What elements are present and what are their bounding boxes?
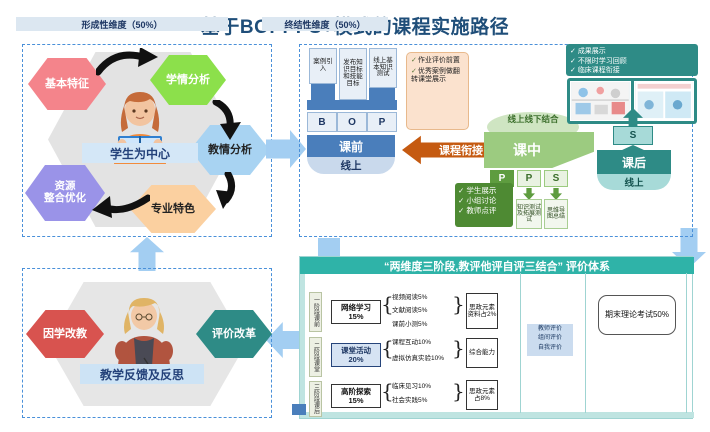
cycle-arrow-4-icon bbox=[92, 190, 150, 222]
callout-postclass-item-3: 临床课程衔接 bbox=[578, 67, 620, 74]
side-box-row-3: 思政元素占8% bbox=[466, 380, 498, 410]
riser-base bbox=[307, 100, 397, 110]
main-box-row-2[interactable]: 课堂活动 20% bbox=[331, 343, 381, 367]
thumbnail-courseware[interactable] bbox=[634, 81, 695, 121]
preclass-box-b[interactable]: 案例引入 bbox=[309, 48, 337, 84]
stage-label-3: 三阶段课后 bbox=[309, 381, 322, 417]
evaluator-peer: 组间评价 bbox=[527, 334, 573, 343]
callout-inclass-item-3: 教师点评 bbox=[466, 206, 496, 215]
postclass-s-box: S bbox=[613, 126, 653, 145]
side-box-row-2: 综合能力 bbox=[466, 338, 498, 368]
sub-item-2-2: 虚拟仿真实验10% bbox=[392, 352, 444, 362]
pps-cell-s: S bbox=[544, 170, 568, 187]
connector-tab-top bbox=[318, 238, 340, 256]
evaluator-self: 自我评价 bbox=[527, 344, 573, 353]
divider-1 bbox=[520, 273, 521, 413]
pps-detail-p2: 知识测试及拓展测试 bbox=[516, 199, 542, 229]
slide-canvas: 基于BOPPPS+模式的课程实施路径 基本特征 学情分析 教情分析 专业特色 资… bbox=[0, 0, 710, 432]
evaluator-list: 教师评价 组间评价 自我评价 bbox=[527, 324, 573, 356]
preclass-box-o-label: 发布知识目标和技能目标 bbox=[341, 60, 365, 87]
eval-subheader-summative: 终结性维度（50%） bbox=[262, 17, 388, 31]
check-icon: ✓ bbox=[570, 67, 578, 74]
center-label-student-centered: 学生为中心 bbox=[82, 143, 198, 163]
sub-item-1-1: 视频阅读5% bbox=[392, 291, 427, 301]
preclass-box-p-label: 线上基本知识测试 bbox=[371, 58, 395, 78]
hex-learning-analysis-label: 学情分析 bbox=[166, 74, 210, 86]
hex-evaluation-reform-label: 评价改革 bbox=[212, 328, 256, 340]
evaluator-teacher: 教师评价 bbox=[527, 325, 573, 334]
callout-inclass-item-2: 小组讨论 bbox=[466, 196, 496, 205]
main-box-row-2-line2: 20% bbox=[348, 355, 363, 364]
arrow-up-left-icon bbox=[130, 237, 164, 271]
sub-item-1-2: 文献阅读5% bbox=[392, 304, 427, 314]
check-icon: ✓ bbox=[570, 58, 578, 65]
hex-adjust-teaching-label: 因学改教 bbox=[43, 328, 87, 340]
check-icon: ✓ bbox=[411, 68, 417, 75]
callout-preclass-item-2: 优秀案例做翻转课堂展示 bbox=[411, 68, 460, 84]
stage-label-2-text: 二阶段课堂 bbox=[313, 342, 319, 372]
sub-item-2-1: 课程互动10% bbox=[392, 336, 431, 346]
final-exam-box: 期末理论考试50% bbox=[598, 295, 676, 335]
main-box-row-1-line1: 网络学习 bbox=[341, 303, 371, 312]
letter-cell-o: O bbox=[337, 112, 367, 132]
evaluation-title: “两维度三阶段,教评他评自评三结合” 评价体系 bbox=[300, 257, 694, 274]
main-box-row-1[interactable]: 网络学习 15% bbox=[331, 300, 381, 324]
stage-label-1-text: 一阶段课前 bbox=[313, 297, 319, 327]
callout-postclass-item-1: 成果展示 bbox=[578, 48, 606, 55]
callout-preclass-notes: ✓作业评价前置 ✓优秀案例做翻转课堂展示 bbox=[406, 52, 469, 130]
teacher-illustration bbox=[108, 296, 180, 368]
cycle-arrow-2-icon bbox=[210, 100, 244, 140]
callout-postclass-notes: ✓ 成果展示 ✓ 不限时学习回顾 ✓ 临床课程衔接 bbox=[566, 44, 698, 76]
callout-inclass-item-1: 学生展示 bbox=[466, 186, 496, 195]
comic-image bbox=[571, 82, 630, 120]
preclass-box-b-label: 案例引入 bbox=[311, 59, 335, 73]
main-box-row-1-line2: 15% bbox=[348, 312, 363, 321]
main-box-row-3-line2: 15% bbox=[348, 396, 363, 405]
pps-cell-p2: P bbox=[517, 170, 541, 187]
band-post-class: 课后 bbox=[597, 150, 671, 174]
check-icon: ✓ bbox=[411, 57, 417, 64]
thumbnail-comic[interactable] bbox=[570, 81, 631, 121]
main-box-row-2-line1: 课堂活动 bbox=[341, 346, 371, 355]
riser-b bbox=[311, 84, 335, 100]
preclass-box-p[interactable]: 线上基本知识测试 bbox=[369, 48, 397, 88]
callout-preclass-item-1: 作业评价前置 bbox=[418, 57, 460, 64]
sub-item-3-2: 社会实践5% bbox=[392, 394, 427, 404]
stage-label-3-text: 三阶段课后 bbox=[313, 384, 319, 414]
eval-subheader-formative: 形成性维度（50%） bbox=[16, 17, 228, 31]
band-pre-class-sub: 线上 bbox=[307, 157, 395, 174]
check-icon: ✓ bbox=[570, 48, 578, 55]
hex-resource-line1: 资源 bbox=[55, 180, 76, 192]
cycle-arrow-3-icon bbox=[206, 172, 240, 210]
band-post-class-sub: 线上 bbox=[597, 174, 671, 190]
callout-postclass-item-2: 不限时学习回顾 bbox=[578, 58, 627, 65]
main-box-row-3-line1: 高阶探索 bbox=[341, 387, 371, 396]
divider-3 bbox=[686, 273, 687, 413]
hex-teaching-analysis-label: 教情分析 bbox=[208, 144, 252, 156]
eval-left-accent bbox=[300, 274, 305, 414]
callout-inclass-notes: ✓ 学生展示 ✓ 小组讨论 ✓ 教师点评 bbox=[455, 183, 513, 227]
hex-major-feature-label: 专业特色 bbox=[151, 203, 195, 215]
sub-item-3-1: 临床见习10% bbox=[392, 380, 431, 390]
eval-bottom-accent bbox=[300, 412, 694, 418]
hex-resource-line2: 整合优化 bbox=[44, 192, 86, 204]
hex-basic-feature-label: 基本特征 bbox=[45, 78, 89, 90]
main-box-row-3[interactable]: 高阶探索 15% bbox=[331, 384, 381, 408]
cycle-arrow-1-icon bbox=[96, 48, 158, 78]
connector-tab-bottom bbox=[292, 404, 306, 415]
preclass-box-o[interactable]: 发布知识目标和技能目标 bbox=[339, 48, 367, 100]
pps-detail-s: 思维导图总结 bbox=[544, 199, 568, 229]
sub-item-1-3: 课前小测5% bbox=[392, 318, 427, 328]
stage-label-2: 二阶段课堂 bbox=[309, 337, 322, 377]
stage-label-1: 一阶段课前 bbox=[309, 292, 322, 332]
side-box-row-1: 思政元素资料占2% bbox=[466, 293, 498, 329]
band-pre-class: 课前 bbox=[307, 135, 395, 157]
center-label-feedback: 教学反馈及反思 bbox=[80, 364, 204, 384]
courseware-image bbox=[635, 82, 694, 120]
letter-cell-p: P bbox=[367, 112, 397, 132]
letter-cell-b: B bbox=[307, 112, 337, 132]
divider-2 bbox=[585, 273, 586, 413]
